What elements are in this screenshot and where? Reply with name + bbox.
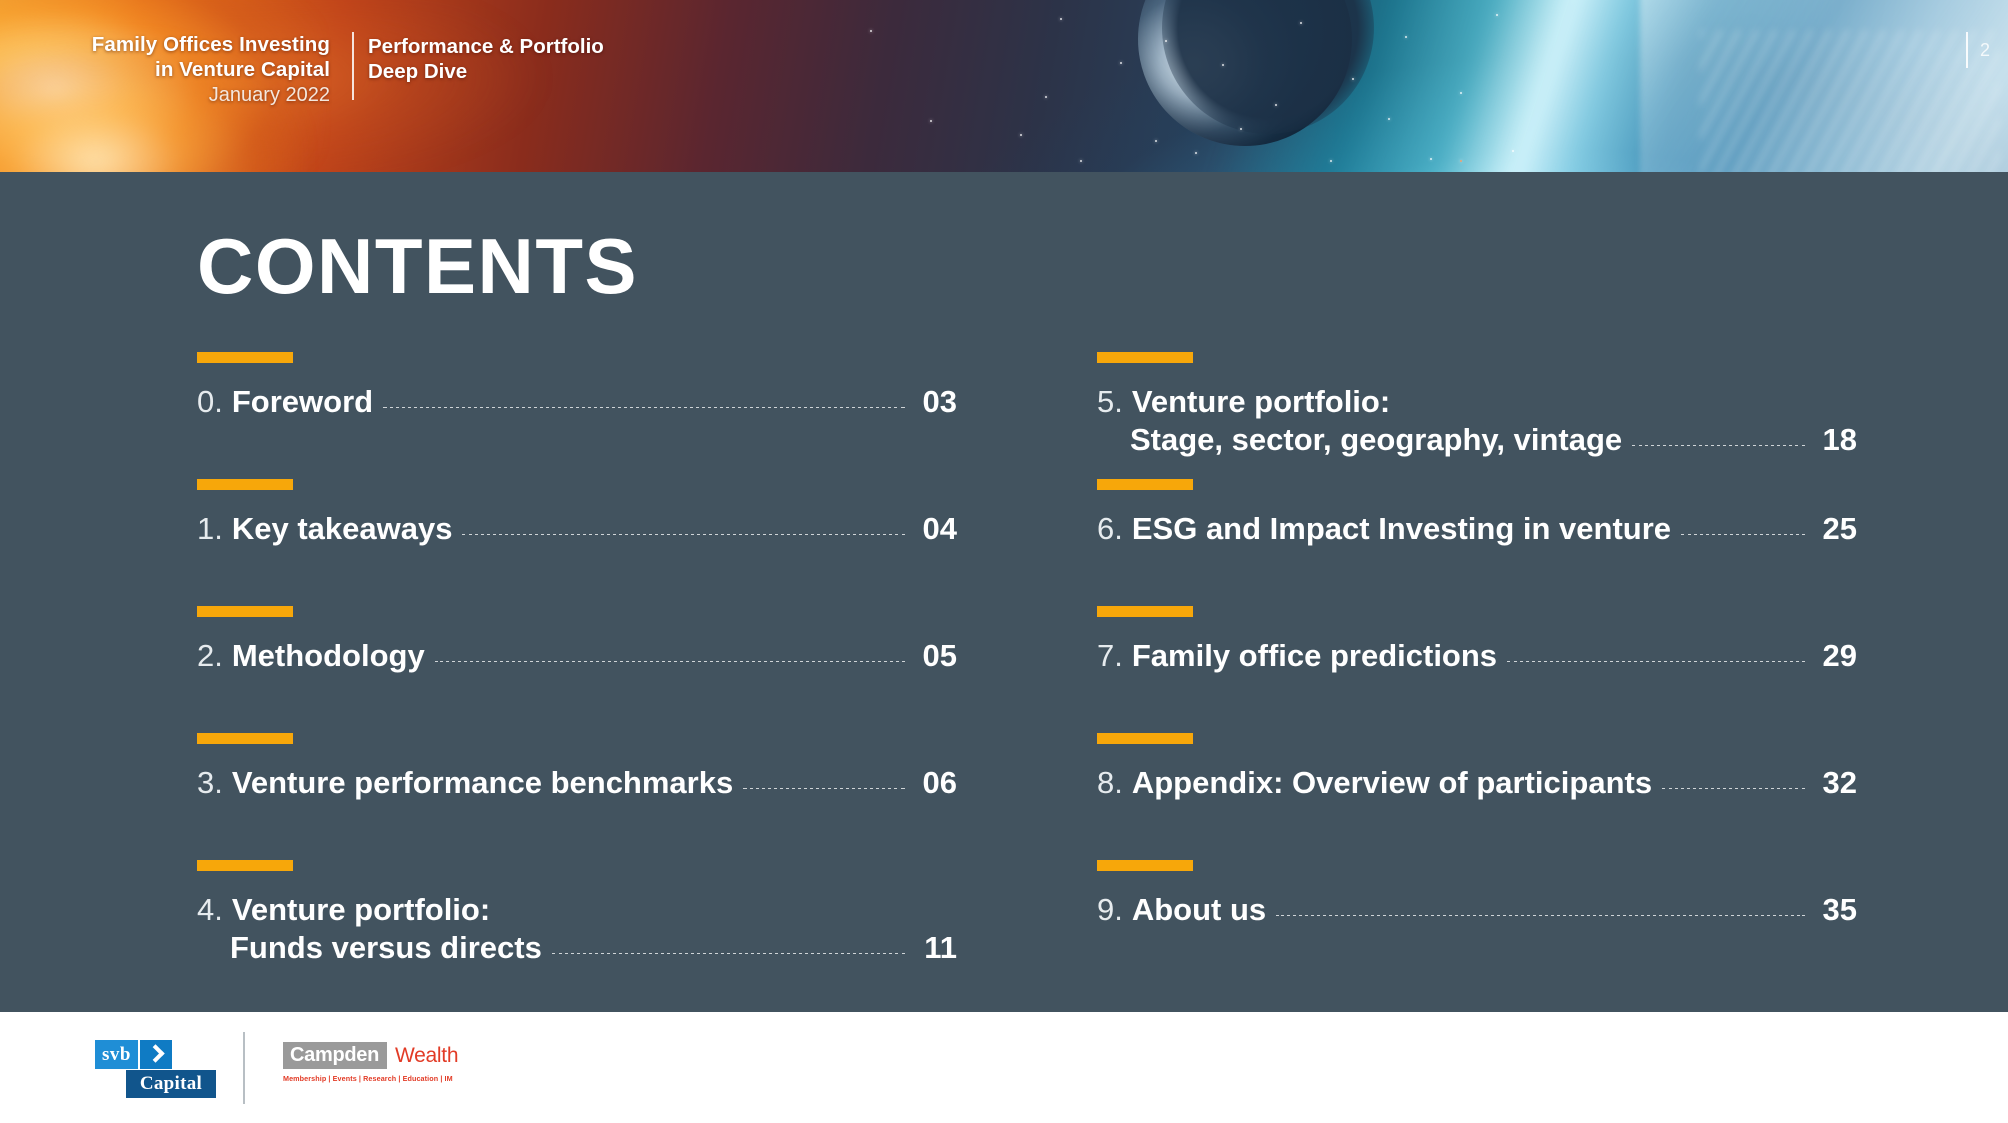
toc-accent-rule xyxy=(197,733,293,744)
toc-accent-rule xyxy=(197,479,293,490)
slide-contents-page: Family Offices Investing in Venture Capi… xyxy=(0,0,2008,1123)
svb-capital-wordmark: Capital xyxy=(126,1070,216,1098)
toc-entry[interactable]: 4.Venture portfolio:Funds versus directs… xyxy=(197,860,957,987)
toc-dot-leader xyxy=(383,407,905,408)
toc-entry[interactable]: 2.Methodology05 xyxy=(197,606,957,733)
toc-entry-title: About us xyxy=(1132,891,1266,929)
toc-entry-number: 5. xyxy=(1097,383,1123,421)
toc-entry-line: 6.ESG and Impact Investing in venture25 xyxy=(1097,510,1857,548)
toc-page-number: 25 xyxy=(1813,510,1857,548)
toc-entry[interactable]: 0.Foreword03 xyxy=(197,352,957,479)
toc-page-number: 29 xyxy=(1813,637,1857,675)
page-number-block: 2 xyxy=(1966,32,1990,68)
page-number-rule xyxy=(1966,32,1968,68)
toc-entry-number: 7. xyxy=(1097,637,1123,675)
toc-column-left: 0.Foreword031.Key takeaways042.Methodolo… xyxy=(197,352,957,987)
toc-entry-line: 4.Venture portfolio: xyxy=(197,891,957,929)
toc-entry-number: 6. xyxy=(1097,510,1123,548)
toc-page-number: 06 xyxy=(913,764,957,802)
toc-entry-line: 8.Appendix: Overview of participants32 xyxy=(1097,764,1857,802)
toc-entry-line: 7.Family office predictions29 xyxy=(1097,637,1857,675)
page-title: CONTENTS xyxy=(197,227,638,305)
toc-accent-rule xyxy=(1097,606,1193,617)
toc-entry[interactable]: 9.About us35 xyxy=(1097,860,1857,987)
toc-accent-rule xyxy=(197,606,293,617)
toc-entry-title: Venture performance benchmarks xyxy=(232,764,733,802)
toc-entry-line: 9.About us35 xyxy=(1097,891,1857,929)
header-divider xyxy=(352,32,354,100)
toc-page-number: 05 xyxy=(913,637,957,675)
toc-entry-title: Key takeaways xyxy=(232,510,453,548)
toc-entry[interactable]: 7.Family office predictions29 xyxy=(1097,606,1857,733)
toc-dot-leader xyxy=(1681,534,1805,535)
footer-bar: svb Capital Campden Wealth Membership | … xyxy=(0,1012,2008,1123)
toc-dot-leader xyxy=(743,788,905,789)
toc-page-number: 11 xyxy=(913,929,957,967)
toc-accent-rule xyxy=(197,352,293,363)
report-subtitle-line1: Performance & Portfolio xyxy=(368,34,604,59)
toc-entry-title: Venture portfolio: xyxy=(232,891,490,929)
toc-page-number: 03 xyxy=(913,383,957,421)
campden-wealth-logo[interactable]: Campden Wealth Membership | Events | Res… xyxy=(283,1042,458,1083)
toc-dot-leader xyxy=(552,953,905,954)
toc-entry-subtitle: Stage, sector, geography, vintage xyxy=(1130,421,1622,459)
toc-accent-rule xyxy=(1097,860,1193,871)
toc-entry-number: 2. xyxy=(197,637,223,675)
toc-entry-title: Methodology xyxy=(232,637,425,675)
toc-entry-subtitle: Funds versus directs xyxy=(230,929,542,967)
toc-entry-title: ESG and Impact Investing in venture xyxy=(1132,510,1671,548)
toc-entry-title: Venture portfolio: xyxy=(1132,383,1390,421)
toc-dot-leader xyxy=(1507,661,1805,662)
toc-entry-number: 3. xyxy=(197,764,223,802)
toc-dot-leader xyxy=(1632,445,1805,446)
toc-dot-leader xyxy=(1662,788,1805,789)
toc-entry[interactable]: 8.Appendix: Overview of participants32 xyxy=(1097,733,1857,860)
toc-accent-rule xyxy=(1097,733,1193,744)
toc-entry[interactable]: 3.Venture performance benchmarks06 xyxy=(197,733,957,860)
toc-page-number: 04 xyxy=(913,510,957,548)
toc-entry-number: 8. xyxy=(1097,764,1123,802)
report-subtitle-line2: Deep Dive xyxy=(368,59,604,84)
toc-entry-line: 2.Methodology05 xyxy=(197,637,957,675)
svb-capital-logo[interactable]: svb Capital xyxy=(95,1040,215,1096)
footer-logo-divider xyxy=(243,1032,245,1104)
campden-tagline: Membership | Events | Research | Educati… xyxy=(283,1074,458,1083)
contents-panel: CONTENTS 0.Foreword031.Key takeaways042.… xyxy=(0,172,2008,1012)
toc-entry[interactable]: 5.Venture portfolio:Stage, sector, geogr… xyxy=(1097,352,1857,479)
report-subtitle-block: Performance & Portfolio Deep Dive xyxy=(368,34,604,84)
toc-accent-rule xyxy=(197,860,293,871)
toc-entry[interactable]: 1.Key takeaways04 xyxy=(197,479,957,606)
toc-entry-number: 0. xyxy=(197,383,223,421)
report-title-line1: Family Offices Investing xyxy=(0,32,330,57)
campden-wordmark: Campden xyxy=(283,1042,387,1069)
toc-accent-rule xyxy=(1097,352,1193,363)
toc-entry-number: 1. xyxy=(197,510,223,548)
toc-column-right: 5.Venture portfolio:Stage, sector, geogr… xyxy=(1097,352,1857,987)
campden-wealth-wordmark: Wealth xyxy=(395,1042,458,1069)
toc-dot-leader xyxy=(462,534,905,535)
toc-entry[interactable]: 6.ESG and Impact Investing in venture25 xyxy=(1097,479,1857,606)
chevron-right-icon xyxy=(140,1040,172,1069)
svb-wordmark: svb xyxy=(95,1040,138,1069)
page-number: 2 xyxy=(1980,40,1990,61)
toc-entry-number: 9. xyxy=(1097,891,1123,929)
toc-entry-line: 3.Venture performance benchmarks06 xyxy=(197,764,957,802)
toc-column-gap xyxy=(957,352,1097,987)
toc-entry-line: 0.Foreword03 xyxy=(197,383,957,421)
toc-entry-line: 1.Key takeaways04 xyxy=(197,510,957,548)
toc-entry-line: 5.Venture portfolio: xyxy=(1097,383,1857,421)
toc-entry-line-2: Stage, sector, geography, vintage18 xyxy=(1097,421,1857,459)
toc-page-number: 18 xyxy=(1813,421,1857,459)
toc-entry-number: 4. xyxy=(197,891,223,929)
header-banner: Family Offices Investing in Venture Capi… xyxy=(0,0,2008,172)
campden-logo-row: Campden Wealth xyxy=(283,1042,458,1069)
toc-entry-title: Foreword xyxy=(232,383,373,421)
toc-entry-line-2: Funds versus directs11 xyxy=(197,929,957,967)
table-of-contents: 0.Foreword031.Key takeaways042.Methodolo… xyxy=(197,352,1897,987)
toc-accent-rule xyxy=(1097,479,1193,490)
toc-entry-title: Appendix: Overview of participants xyxy=(1132,764,1652,802)
toc-dot-leader xyxy=(435,661,905,662)
toc-page-number: 32 xyxy=(1813,764,1857,802)
report-date: January 2022 xyxy=(0,82,330,109)
toc-dot-leader xyxy=(1276,915,1805,916)
toc-entry-title: Family office predictions xyxy=(1132,637,1497,675)
toc-page-number: 35 xyxy=(1813,891,1857,929)
svb-logo-top-row: svb xyxy=(95,1040,215,1069)
report-title-block: Family Offices Investing in Venture Capi… xyxy=(0,32,330,109)
report-title-line2: in Venture Capital xyxy=(0,57,330,82)
